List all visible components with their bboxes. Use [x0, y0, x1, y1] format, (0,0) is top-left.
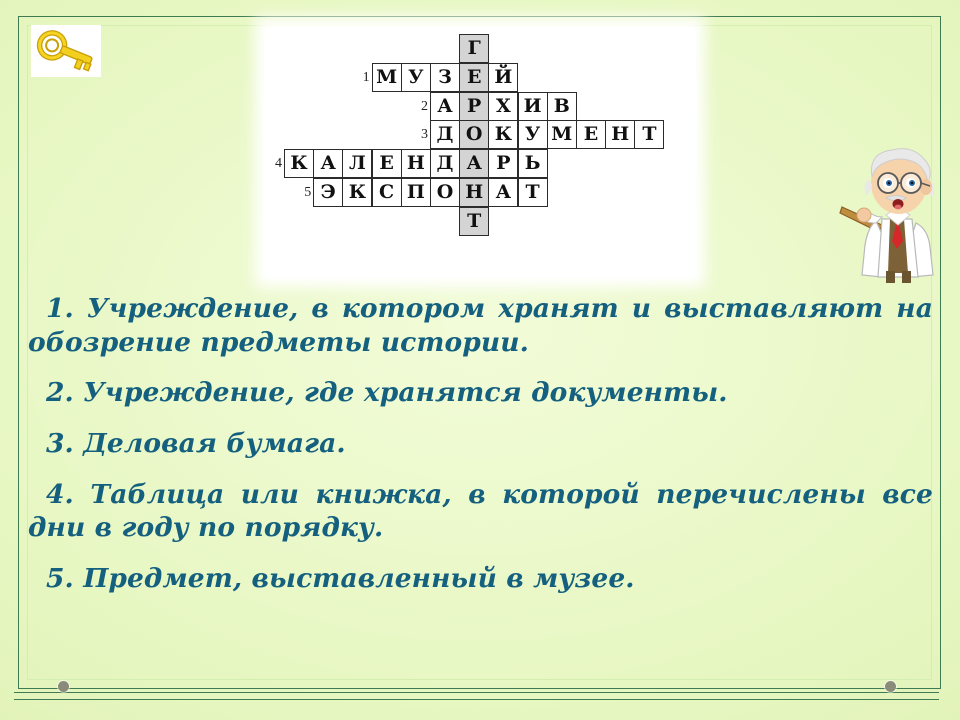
- crossword-cell: М: [547, 120, 577, 149]
- crossword-cell: К: [342, 178, 372, 207]
- clue-list: 1. Учреждение, в котором хранят и выстав…: [28, 292, 933, 595]
- crossword-cell: Р: [459, 92, 489, 121]
- clue-text: Таблица или книжка, в которой перечислен…: [28, 479, 933, 544]
- crossword-cell: А: [488, 178, 518, 207]
- crossword-row-number: 3: [408, 120, 428, 149]
- crossword-row-number: 2: [408, 92, 428, 121]
- rule-line-top: [14, 692, 939, 693]
- crossword-cell: Н: [459, 178, 489, 207]
- crossword-cell: О: [459, 120, 489, 149]
- clue-number: 3.: [46, 428, 83, 459]
- crossword-cell: Й: [488, 63, 518, 92]
- crossword-cell: Д: [430, 149, 460, 178]
- clue-item-4: 4. Таблица или книжка, в которой перечис…: [28, 478, 933, 545]
- crossword-cell: Х: [488, 92, 518, 121]
- decor-dot-left: [58, 681, 69, 692]
- key-icon: [31, 25, 101, 77]
- clue-number: 5.: [46, 563, 83, 594]
- crossword-cell: С: [372, 178, 402, 207]
- crossword-cell: Ь: [518, 149, 548, 178]
- clue-text: Учреждение, в котором хранят и выставляю…: [28, 293, 933, 358]
- crossword-cell: Е: [459, 63, 489, 92]
- crossword-row-number: 4: [262, 149, 282, 178]
- crossword-cell: Н: [401, 149, 431, 178]
- crossword-cell: П: [401, 178, 431, 207]
- crossword-cell: У: [518, 120, 548, 149]
- crossword-cell: А: [313, 149, 343, 178]
- crossword-cell: М: [372, 63, 402, 92]
- crossword-cell: Н: [605, 120, 635, 149]
- clue-number: 4.: [46, 479, 90, 510]
- crossword-row-number: 5: [291, 178, 311, 207]
- slide-canvas: Г1МУЗЕЙ2АРХИВ3ДОКУМЕНТ4КАЛЕНДАРЬ5ЭКСПОНА…: [0, 0, 960, 720]
- crossword-cell: Л: [342, 149, 372, 178]
- clue-text: Предмет, выставленный в музее.: [83, 563, 634, 594]
- clue-text: Деловая бумага.: [83, 428, 346, 459]
- crossword-cell: И: [518, 92, 548, 121]
- crossword-cell: Д: [430, 120, 460, 149]
- crossword-cell: Г: [459, 34, 489, 63]
- crossword-cell: У: [401, 63, 431, 92]
- clue-item-5: 5. Предмет, выставленный в музее.: [28, 562, 933, 596]
- rule-line-bottom: [14, 699, 939, 700]
- crossword-row-number: 1: [350, 63, 370, 92]
- clue-item-3: 3. Деловая бумага.: [28, 427, 933, 461]
- clue-text: Учреждение, где хранятся документы.: [83, 377, 727, 408]
- clue-item-2: 2. Учреждение, где хранятся документы.: [28, 376, 933, 410]
- crossword-cell: А: [430, 92, 460, 121]
- crossword-cell: Е: [576, 120, 606, 149]
- clue-number: 1.: [46, 293, 87, 324]
- crossword-cell: К: [284, 149, 314, 178]
- crossword-cell: Р: [488, 149, 518, 178]
- crossword-grid: Г1МУЗЕЙ2АРХИВ3ДОКУМЕНТ4КАЛЕНДАРЬ5ЭКСПОНА…: [265, 27, 695, 277]
- crossword-cell: Т: [459, 207, 489, 236]
- crossword-cell: К: [488, 120, 518, 149]
- crossword-cell: Т: [634, 120, 664, 149]
- clue-item-1: 1. Учреждение, в котором хранят и выстав…: [28, 292, 933, 359]
- clue-number: 2.: [46, 377, 83, 408]
- crossword-cell: Е: [372, 149, 402, 178]
- crossword-cell: Э: [313, 178, 343, 207]
- crossword-cell: Т: [518, 178, 548, 207]
- crossword-cell: А: [459, 149, 489, 178]
- crossword-cell: О: [430, 178, 460, 207]
- crossword-panel: Г1МУЗЕЙ2АРХИВ3ДОКУМЕНТ4КАЛЕНДАРЬ5ЭКСПОНА…: [265, 27, 695, 277]
- decor-dot-right: [885, 681, 896, 692]
- crossword-cell: З: [430, 63, 460, 92]
- professor-character-icon: [838, 145, 954, 283]
- crossword-cell: В: [547, 92, 577, 121]
